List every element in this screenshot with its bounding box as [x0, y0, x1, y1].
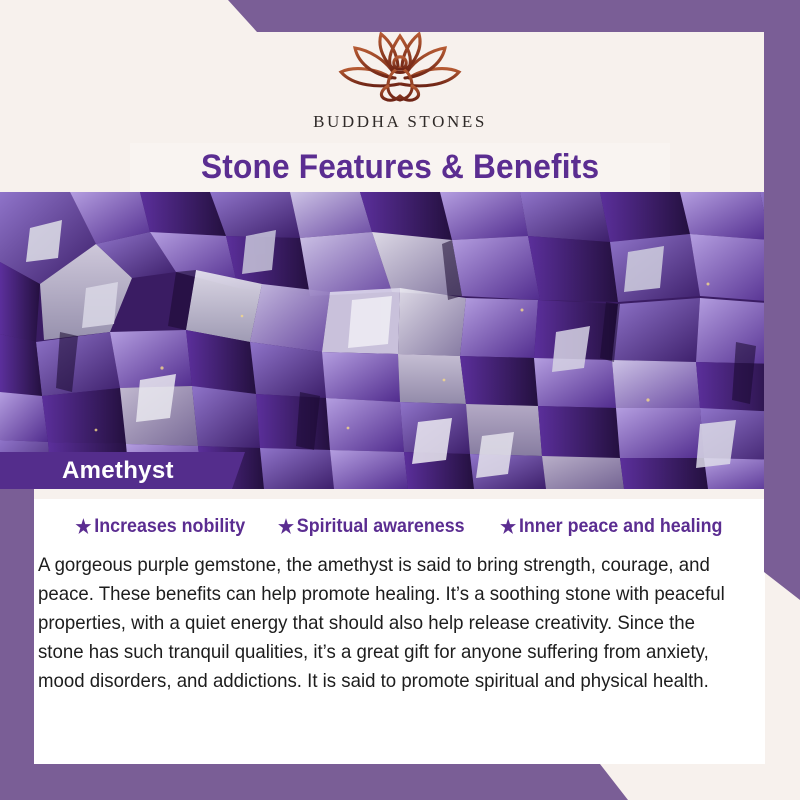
section-title-band: Stone Features & Benefits [130, 143, 670, 192]
frame-band-left [0, 489, 34, 800]
lotus-meditation-icon [315, 22, 485, 108]
benefit-item-2: ★ Spiritual awareness [278, 516, 465, 538]
amethyst-crystal-cluster-photo [0, 192, 800, 489]
benefit-item-3: ★ Inner peace and healing [500, 516, 722, 538]
frame-band-bottom [0, 764, 800, 800]
stone-name-banner: Amethyst [0, 452, 245, 489]
stone-description: A gorgeous purple gemstone, the amethyst… [38, 551, 728, 696]
page-title: Stone Features & Benefits [201, 148, 599, 187]
benefit-label-3: Inner peace and healing [519, 516, 722, 538]
benefit-item-1: ★ Increases nobility [75, 516, 245, 538]
star-icon: ★ [75, 518, 91, 537]
content-top-divider [34, 489, 765, 499]
benefit-label-2: Spiritual awareness [297, 516, 465, 538]
brand-name: BUDDHA STONES [313, 112, 487, 132]
content-panel: ★ Increases nobility ★ Spiritual awarene… [34, 489, 765, 764]
star-icon: ★ [500, 518, 516, 537]
star-icon: ★ [278, 518, 294, 537]
benefits-list: ★ Increases nobility ★ Spiritual awarene… [34, 516, 765, 538]
brand-logo: BUDDHA STONES [0, 22, 800, 132]
benefit-label-1: Increases nobility [94, 516, 245, 538]
frame-band-right [764, 0, 800, 600]
stone-name-label: Amethyst [62, 457, 174, 485]
